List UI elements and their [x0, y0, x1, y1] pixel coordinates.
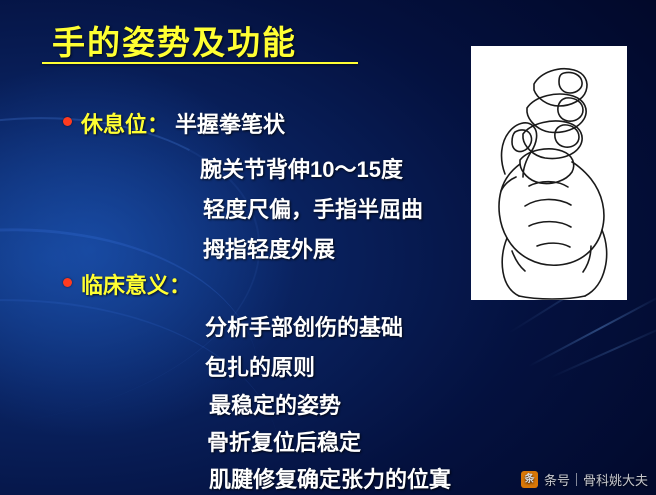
title-underline: [42, 62, 358, 64]
bullet-1-subline-1: 腕关节背伸10～15度: [200, 152, 403, 184]
bullet-2-subline-4: 骨折复位后稳定: [207, 425, 361, 457]
bullet-2-subline-1: 分析手部创伤的基础: [205, 310, 403, 342]
bullet-2-subline-5: 肌腱修复确定张力的位寘: [209, 462, 451, 494]
slide: 手的姿势及功能 休息位： 半握拳笔状 腕关节背伸10～15度 轻度尺偏，手指半屈…: [0, 0, 656, 495]
bullet-item-1: 休息位： 半握拳笔状: [63, 107, 285, 139]
watermark-tag: 条号: [544, 470, 570, 489]
hand-rest-position-figure: [471, 46, 627, 300]
bullet-1-head: 休息位：: [81, 107, 169, 139]
bullet-2-head: 临床意义：: [81, 268, 191, 300]
bullet-dot-icon: [63, 117, 72, 126]
bullet-1-rest: 半握拳笔状: [175, 107, 285, 139]
hand-drawing-svg: [471, 46, 627, 300]
watermark: 条 条号 骨科姚大夫: [521, 470, 648, 489]
bullet-1-subline-3: 拇指轻度外展: [203, 232, 335, 264]
bullet-2-subline-3: 最稳定的姿势: [209, 388, 341, 420]
watermark-name: 骨科姚大夫: [583, 470, 648, 489]
bullet-1-subline-2: 轻度尺偏，手指半屈曲: [203, 192, 423, 224]
watermark-logo-icon: 条: [521, 471, 538, 488]
bullet-item-2: 临床意义：: [63, 268, 197, 300]
background-ray-2: [550, 324, 656, 379]
background-ray-1: [528, 295, 656, 367]
bullet-2-subline-2: 包扎的原则: [205, 350, 315, 382]
watermark-divider: [576, 473, 577, 486]
slide-title: 手的姿势及功能: [52, 16, 297, 64]
bullet-dot-icon: [63, 278, 72, 287]
